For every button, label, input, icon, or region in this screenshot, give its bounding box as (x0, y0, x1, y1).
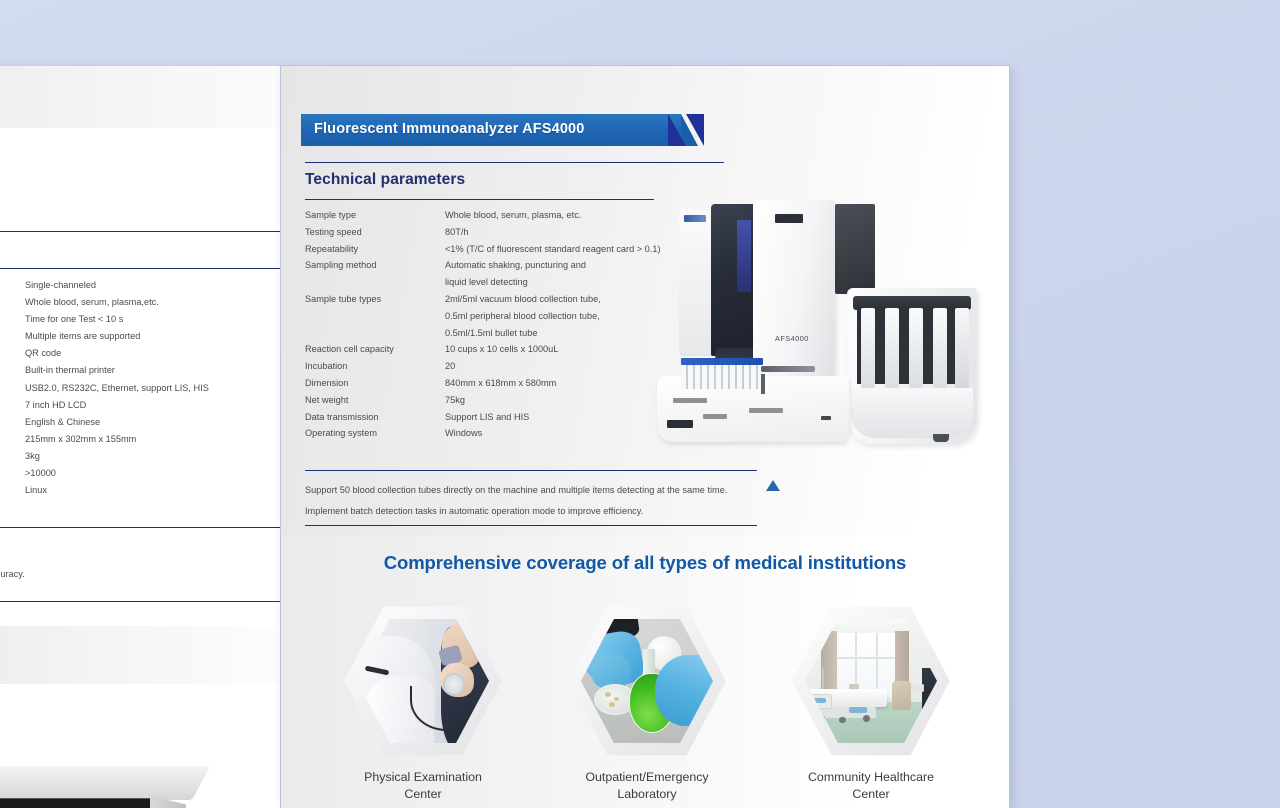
spec-row: Testing speed80T/h (305, 227, 675, 244)
spec-row: Sample typeWhole blood, serum, plasma, e… (305, 210, 675, 227)
institution-caption: Physical ExaminationCenter (337, 769, 509, 802)
deck-label-3 (749, 408, 783, 413)
caption-line: Physical Examination (337, 769, 509, 786)
left-page-spec-value: Built-in thermal printer (25, 362, 209, 379)
spec-value: 10 cups x 10 cells x 1000uL (445, 344, 675, 354)
spec-row: Net weight75kg (305, 395, 675, 412)
divider-line (0, 601, 280, 602)
hexagon-frame (344, 602, 502, 760)
feature-notes: Support 50 blood collection tubes direct… (305, 480, 727, 522)
technical-parameters-table: Sample typeWhole blood, serum, plasma, e… (305, 210, 675, 445)
spec-key: Sampling method (305, 260, 445, 270)
spec-key: Reaction cell capacity (305, 344, 445, 354)
deck-port-icon (821, 416, 831, 420)
left-page-spec-value: 7 inch HD LCD (25, 397, 209, 414)
feature-note-line: Support 50 blood collection tubes direct… (305, 480, 727, 501)
caption-line: Laboratory (561, 786, 733, 803)
hexagon-frame (568, 602, 726, 760)
left-page-note-line: loor and outdoor use. (0, 543, 25, 564)
left-page-device-photo: SPRT (0, 766, 280, 808)
spec-key: Operating system (305, 428, 445, 438)
spec-value: Automatic shaking, puncturing and (445, 260, 675, 270)
device-top-panel (0, 766, 210, 800)
left-page-spec-value: 3kg (25, 448, 209, 465)
triangle-marker-icon (766, 480, 780, 491)
brand-logo-icon (667, 420, 693, 428)
spec-key: Dimension (305, 378, 445, 388)
sampling-needle (761, 374, 765, 394)
spec-row: Operating systemWindows (305, 428, 675, 445)
ribbon-navy-chevron-lower (686, 114, 704, 146)
institution-card: Community HealthcareCenter (785, 602, 957, 802)
doctor-examining-patient-photo (357, 615, 489, 747)
spec-value: liquid level detecting (445, 277, 675, 287)
model-label: AFS4000 (775, 334, 809, 343)
divider-line (305, 525, 757, 526)
spec-key: Sample tube types (305, 294, 445, 304)
left-page-spec-value: USB2.0, RS232C, Ethernet, support LIS, H… (25, 380, 209, 397)
caption-line: Outpatient/Emergency (561, 769, 733, 786)
page-top-gradient-band (0, 66, 280, 128)
left-page-spec-value: Single-channeled (25, 277, 209, 294)
left-page-spec-list: Single-channeledWhole blood, serum, plas… (25, 277, 209, 499)
carousel-divider (885, 308, 899, 388)
hexagon-frame (792, 602, 950, 760)
spec-value: 840mm x 618mm x 580mm (445, 378, 675, 388)
spec-key: Repeatability (305, 244, 445, 254)
divider-line (305, 162, 724, 163)
tube-caps-row (681, 358, 763, 365)
spec-value: Support LIS and HIS (445, 412, 675, 422)
institution-card: Physical ExaminationCenter (337, 602, 509, 802)
left-page-spec-value: QR code (25, 345, 209, 362)
spec-row: Reaction cell capacity10 cups x 10 cells… (305, 344, 675, 361)
spec-value: 75kg (445, 395, 675, 405)
spec-key: Incubation (305, 361, 445, 371)
device-front-panel: SPRT (0, 798, 150, 808)
spec-key: Net weight (305, 395, 445, 405)
section-title: Technical parameters (305, 171, 465, 189)
spec-value: Windows (445, 428, 675, 438)
product-photo: AFS4000 (649, 196, 989, 476)
feature-note-line: Implement batch detection tasks in autom… (305, 501, 727, 522)
coverage-heading: Comprehensive coverage of all types of m… (281, 552, 1009, 574)
analyzer-reagent-carousel (847, 288, 977, 444)
spec-row: Sampling methodAutomatic shaking, punctu… (305, 260, 675, 277)
spec-key: Sample type (305, 210, 445, 220)
spec-value: <1% (T/C of fluorescent standard reagent… (445, 244, 675, 254)
carousel-divider (909, 308, 923, 388)
left-page-spec-value: Multiple items are supported (25, 328, 209, 345)
product-title-ribbon: Fluorescent Immunoanalyzer AFS4000 (301, 114, 721, 146)
carousel-divider (933, 308, 947, 388)
left-page-spec-value: Whole blood, serum, plasma,etc. (25, 294, 209, 311)
sample-tube-rack (681, 358, 763, 390)
institution-card-row: Physical ExaminationCenter (337, 602, 957, 802)
deck-label-1 (673, 398, 707, 403)
tube-bodies-row (681, 365, 763, 389)
spec-row: 0.5ml/1.5ml bullet tube (305, 328, 675, 345)
spec-value: Whole blood, serum, plasma, etc. (445, 210, 675, 220)
spec-value: 0.5ml peripheral blood collection tube, (445, 311, 675, 321)
display-glow (737, 220, 751, 292)
left-page-spec-value: Time for one Test < 10 s (25, 311, 209, 328)
ribbon-navy-chevron-upper (668, 114, 686, 146)
page-lower-gradient-band (0, 626, 280, 684)
spec-key: Data transmission (305, 412, 445, 422)
institution-card: Outpatient/EmergencyLaboratory (561, 602, 733, 802)
analyzer-rear-module (835, 204, 875, 294)
institution-caption: Outpatient/EmergencyLaboratory (561, 769, 733, 802)
spec-value: 2ml/5ml vacuum blood collection tube, (445, 294, 675, 304)
left-page-notes: loor and outdoor use.ficiency and good a… (0, 543, 25, 585)
carousel-base (851, 388, 973, 438)
caption-line: Community Healthcare (785, 769, 957, 786)
main-brochure-page: Fluorescent Immunoanalyzer AFS4000 Techn… (281, 66, 1009, 808)
analyzer-main-tower: AFS4000 (753, 200, 835, 376)
spec-key: Testing speed (305, 227, 445, 237)
institution-caption: Community HealthcareCenter (785, 769, 957, 802)
carousel-divider (861, 308, 875, 388)
divider-line (0, 231, 280, 232)
deck-label-2 (703, 414, 727, 419)
carousel-divider (955, 308, 969, 388)
spec-row: Incubation20 (305, 361, 675, 378)
spec-value: 20 (445, 361, 675, 371)
spec-row: Data transmissionSupport LIS and HIS (305, 412, 675, 429)
brand-logo-icon (775, 214, 803, 223)
left-page-spec-value: 215mm x 302mm x 155mm (25, 431, 209, 448)
brand-logo-icon (684, 215, 706, 222)
divider-line (305, 199, 654, 200)
carousel-foot (933, 434, 949, 442)
product-title: Fluorescent Immunoanalyzer AFS4000 (314, 121, 584, 137)
spec-row: Repeatability<1% (T/C of fluorescent sta… (305, 244, 675, 261)
spec-value: 0.5ml/1.5ml bullet tube (445, 328, 675, 338)
left-page-note-line: ficiency and good accuracy. (0, 564, 25, 585)
divider-line (0, 268, 280, 269)
sampling-arm (761, 366, 815, 372)
left-page-spec-value: >10000 (25, 465, 209, 482)
spec-row: liquid level detecting (305, 277, 675, 294)
brochure-viewer: meters Single-channeledWhole blood, seru… (0, 0, 1280, 808)
laboratory-glassware-photo (581, 615, 713, 747)
left-brochure-page: meters Single-channeledWhole blood, seru… (0, 66, 280, 808)
divider-line (0, 527, 280, 528)
analyzer-left-door (679, 208, 715, 356)
spec-row: Sample tube types2ml/5ml vacuum blood co… (305, 294, 675, 311)
caption-line: Center (337, 786, 509, 803)
caption-line: Center (785, 786, 957, 803)
left-page-spec-value: Linux (25, 482, 209, 499)
spec-row: Dimension840mm x 618mm x 580mm (305, 378, 675, 395)
spec-row: 0.5ml peripheral blood collection tube, (305, 311, 675, 328)
left-page-spec-value: English & Chinese (25, 414, 209, 431)
hospital-ward-photo (805, 615, 937, 747)
analyzer-display-panel (711, 204, 757, 356)
spec-value: 80T/h (445, 227, 675, 237)
divider-line (305, 470, 757, 471)
